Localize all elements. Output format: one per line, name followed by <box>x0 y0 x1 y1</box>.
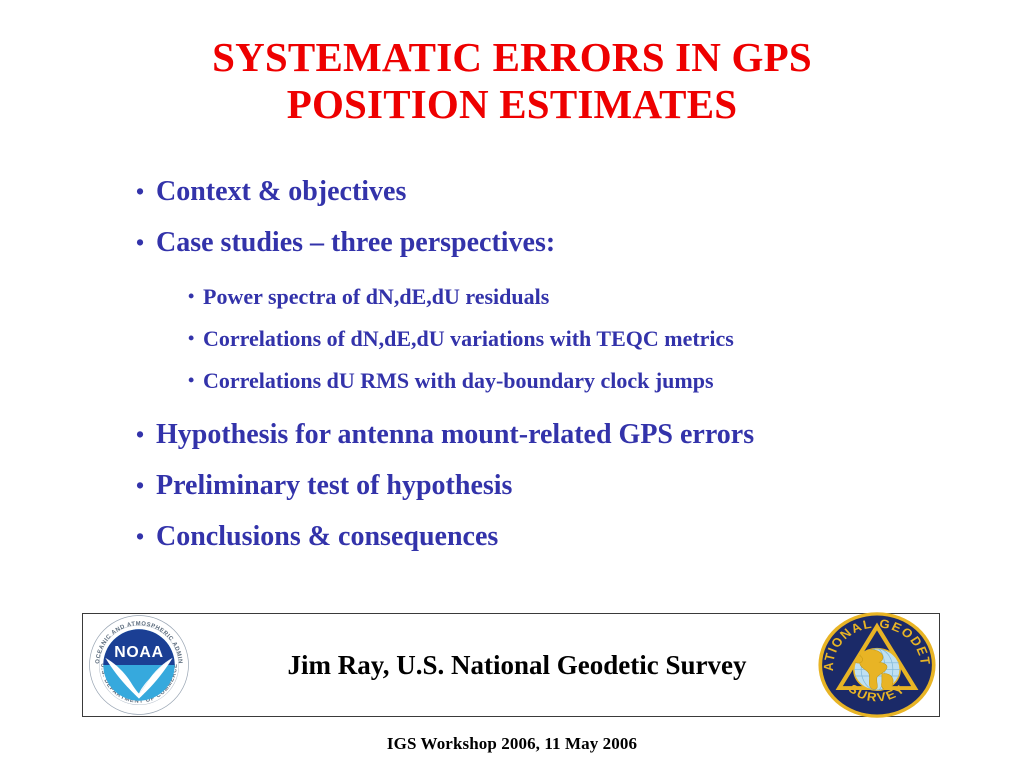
list-item: • Power spectra of dN,dE,dU residuals <box>0 284 1024 309</box>
svg-text:NOAA: NOAA <box>114 644 164 661</box>
list-item-label: Power spectra of dN,dE,dU residuals <box>203 284 549 309</box>
list-item-label: Hypothesis for antenna mount-related GPS… <box>156 419 754 450</box>
bullet-dot-icon: • <box>188 368 203 393</box>
footer-author-text: Jim Ray, U.S. National Geodetic Survey <box>82 613 940 717</box>
list-item-label: Case studies – three perspectives: <box>156 227 555 258</box>
bullet-dot-icon: • <box>136 470 156 501</box>
noaa-logo-icon: NATIONAL OCEANIC AND ATMOSPHERIC ADMINIS… <box>88 614 190 716</box>
bullet-dot-icon: • <box>136 227 156 258</box>
bullet-dot-icon: • <box>136 176 156 207</box>
list-item-label: Conclusions & consequences <box>156 521 498 552</box>
ngs-logo-icon: NATIONAL GEODETIC SURVEY <box>816 610 938 720</box>
list-item-label: Preliminary test of hypothesis <box>156 470 512 501</box>
outline-list: • Context & objectives • Case studies – … <box>0 176 1024 572</box>
sub-outline-group: • Power spectra of dN,dE,dU residuals • … <box>0 284 1024 393</box>
list-item-label: Context & objectives <box>156 176 406 207</box>
bullet-dot-icon: • <box>136 419 156 450</box>
list-item: • Case studies – three perspectives: <box>0 227 1024 258</box>
bullet-dot-icon: • <box>188 284 203 309</box>
list-item-label: Correlations dU RMS with day-boundary cl… <box>203 368 714 393</box>
slide-canvas: SYSTEMATIC ERRORS IN GPS POSITION ESTIMA… <box>0 0 1024 768</box>
list-item: • Correlations dU RMS with day-boundary … <box>0 368 1024 393</box>
bullet-dot-icon: • <box>136 521 156 552</box>
page-title: SYSTEMATIC ERRORS IN GPS POSITION ESTIMA… <box>62 34 962 128</box>
page-title-line-1: SYSTEMATIC ERRORS IN GPS <box>62 34 962 81</box>
page-title-line-2: POSITION ESTIMATES <box>62 81 962 128</box>
bullet-dot-icon: • <box>188 326 203 351</box>
list-item: • Conclusions & consequences <box>0 521 1024 552</box>
list-item-label: Correlations of dN,dE,dU variations with… <box>203 326 734 351</box>
slide-caption: IGS Workshop 2006, 11 May 2006 <box>0 734 1024 754</box>
list-item: • Hypothesis for antenna mount-related G… <box>0 419 1024 450</box>
list-item: • Preliminary test of hypothesis <box>0 470 1024 501</box>
list-item: • Correlations of dN,dE,dU variations wi… <box>0 326 1024 351</box>
list-item: • Context & objectives <box>0 176 1024 207</box>
